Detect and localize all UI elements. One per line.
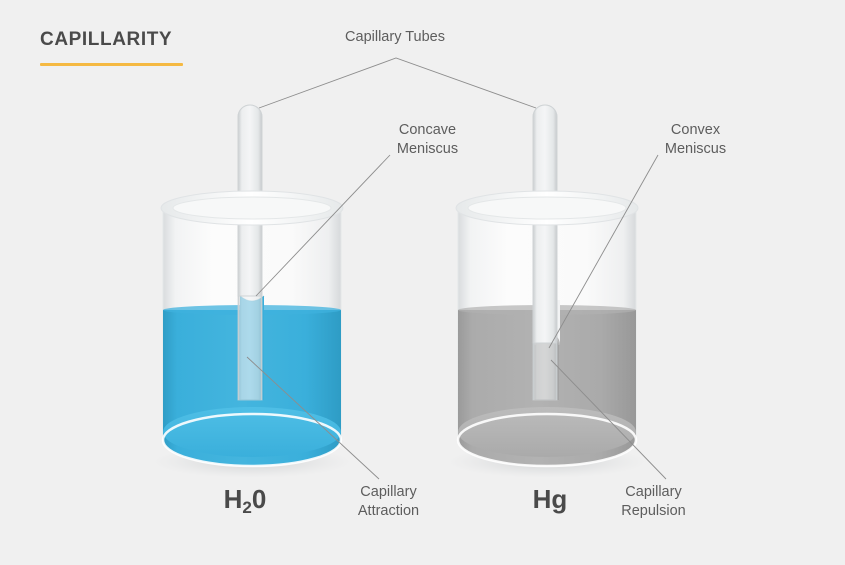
water-formula-main: H	[224, 484, 243, 514]
mercury-beaker-group	[447, 105, 647, 478]
page-title: CAPILLARITY	[40, 30, 183, 49]
diagram-canvas	[0, 0, 845, 565]
water-beaker-group	[152, 105, 352, 478]
water-formula-subscript: 2	[242, 498, 251, 517]
beaker-rim	[456, 191, 638, 225]
title-block: CAPILLARITY	[40, 30, 183, 66]
capillarity-infographic: CAPILLARITY Capillary Tubes Concave Meni…	[0, 0, 845, 565]
label-concave-meniscus: Concave Meniscus	[365, 121, 490, 159]
label-convex-meniscus: Convex Meniscus	[633, 121, 758, 159]
capillary-tube-mercury	[533, 105, 557, 400]
capillary-tube-water	[238, 105, 262, 400]
label-mercury-formula: Hg	[490, 486, 610, 512]
label-capillary-attraction: Capillary Attraction	[326, 483, 451, 521]
title-accent-rule	[40, 63, 183, 66]
label-water-formula: H20	[185, 486, 305, 512]
beaker-rim	[161, 191, 343, 225]
label-capillary-tubes: Capillary Tubes	[305, 28, 485, 47]
water-formula-tail: 0	[252, 484, 266, 514]
leader-capillary-tubes	[259, 58, 536, 108]
